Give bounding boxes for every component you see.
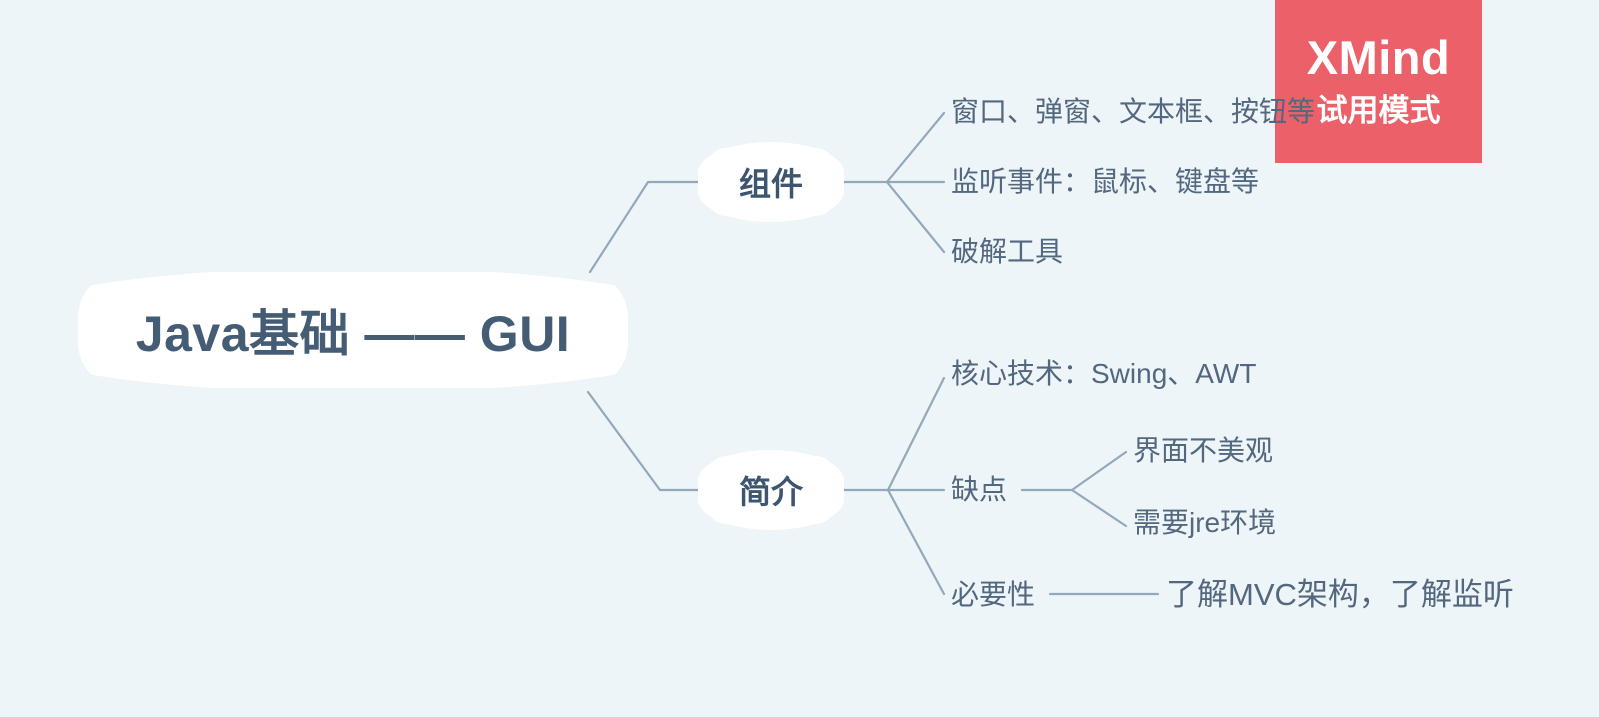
mindmap-canvas[interactable]: XMind 试用模式 Java基础 —— GUI 组件 窗口、弹窗、文本框、按钮… [0, 0, 1599, 717]
wire-components-to-crack [887, 182, 944, 252]
xmind-trial-watermark: XMind 试用模式 [1275, 0, 1482, 163]
leaf-node-widgets[interactable]: 窗口、弹窗、文本框、按钮等 [951, 98, 1315, 126]
root-node-label: Java基础 —— GUI [136, 294, 570, 366]
leaf-node-core-tech[interactable]: 核心技术：Swing、AWT [951, 360, 1256, 388]
leaf-node-events[interactable]: 监听事件：鼠标、键盘等 [951, 168, 1259, 196]
watermark-brand-label: XMind [1275, 34, 1482, 81]
leaf-node-cons[interactable]: 缺点 [951, 476, 1007, 504]
wire-intro-to-necessity [888, 490, 944, 594]
leaf-node-jre-required[interactable]: 需要jre环境 [1133, 509, 1276, 537]
wire-root-to-components [590, 182, 700, 272]
branch-node-components[interactable]: 组件 [698, 142, 844, 222]
wire-cons-to-jre [1072, 490, 1126, 526]
branch-node-intro-label: 简介 [698, 450, 844, 530]
branch-node-intro[interactable]: 简介 [698, 450, 844, 530]
wire-cons-to-ugly [1072, 452, 1126, 490]
branch-node-components-label: 组件 [698, 142, 844, 222]
leaf-node-mvc[interactable]: 了解MVC架构，了解监听 [1166, 579, 1514, 610]
leaf-node-ugly-ui[interactable]: 界面不美观 [1133, 437, 1273, 465]
wire-root-to-intro [588, 392, 700, 490]
leaf-node-crack-tool[interactable]: 破解工具 [951, 238, 1063, 266]
root-node[interactable]: Java基础 —— GUI [78, 272, 628, 388]
leaf-node-necessity[interactable]: 必要性 [951, 581, 1035, 609]
wire-components-to-widgets [887, 113, 944, 182]
wire-intro-to-core [888, 378, 944, 490]
